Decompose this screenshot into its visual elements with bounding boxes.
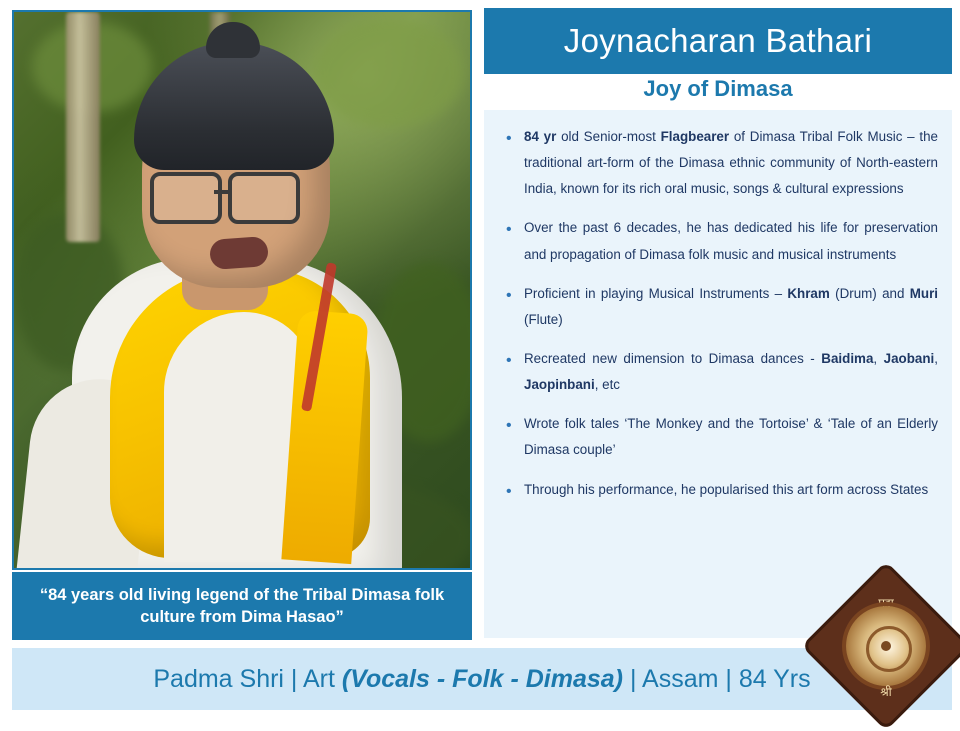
woolen-cap xyxy=(134,42,334,170)
footer-field-label: Art xyxy=(303,665,342,693)
emblem-bottom-text: श्री xyxy=(820,683,952,700)
page-subtitle: Joy of Dimasa xyxy=(484,76,952,102)
bullet-item: 84 yr old Senior-most Flagbearer of Dima… xyxy=(498,124,938,202)
bullet-item: Wrote folk tales ‘The Monkey and the Tor… xyxy=(498,411,938,463)
bullet-panel: 84 yr old Senior-most Flagbearer of Dima… xyxy=(484,110,952,638)
cap-top xyxy=(206,22,260,58)
bullet-text: (Flute) xyxy=(524,312,563,327)
footer-sep-3: | xyxy=(718,665,738,693)
footer-field-detail: (Vocals - Folk - Dimasa) xyxy=(342,665,623,693)
slide: “84 years old living legend of the Triba… xyxy=(0,0,960,720)
tree-trunk xyxy=(66,12,100,242)
footer-bar: Padma Shri | Art (Vocals - Folk - Dimasa… xyxy=(12,648,952,710)
spectacles-right-lens xyxy=(228,172,300,224)
bullet-text: Wrote folk tales ‘The Monkey and the Tor… xyxy=(524,416,938,457)
bullet-highlight: Flagbearer xyxy=(661,129,729,144)
bullet-highlight: Baidima xyxy=(821,351,873,366)
bullet-text: (Drum) and xyxy=(830,286,910,301)
bullet-text: , xyxy=(934,351,938,366)
footer-sep-1: | xyxy=(284,665,303,693)
bullet-item: Recreated new dimension to Dimasa dances… xyxy=(498,346,938,398)
person-mouth xyxy=(209,236,269,270)
photo-caption-box: “84 years old living legend of the Triba… xyxy=(12,572,472,640)
photo-caption-text: “84 years old living legend of the Triba… xyxy=(26,584,458,629)
bullet-highlight: Jaobani xyxy=(884,351,935,366)
footer-text: Padma Shri | Art (Vocals - Folk - Dimasa… xyxy=(153,665,810,694)
emblem-center-dot xyxy=(881,641,891,651)
bullet-text: , etc xyxy=(595,377,620,392)
bullet-text: old Senior-most xyxy=(556,129,660,144)
padma-awards-emblem: पद्म श्री xyxy=(820,580,952,712)
bullet-text: Over the past 6 decades, he has dedicate… xyxy=(524,220,938,261)
bullet-highlight: 84 yr xyxy=(524,129,556,144)
footer-state: Assam xyxy=(642,665,718,693)
bullet-item: Through his performance, he popularised … xyxy=(498,477,938,503)
bullet-highlight: Khram xyxy=(787,286,829,301)
bullet-item: Proficient in playing Musical Instrument… xyxy=(498,281,938,333)
footer-sep-2: | xyxy=(623,665,642,693)
bullet-text: Through his performance, he popularised … xyxy=(524,482,928,497)
bullet-text: , xyxy=(873,351,883,366)
spectacles-left-lens xyxy=(150,172,222,224)
portrait-photo xyxy=(12,10,472,570)
bullet-highlight: Jaopinbani xyxy=(524,377,595,392)
title-bar: Joynacharan Bathari xyxy=(484,8,952,74)
foliage-blob xyxy=(314,18,464,128)
footer-award: Padma Shri xyxy=(153,665,284,693)
spectacles-bridge xyxy=(214,190,230,194)
footer-age: 84 Yrs xyxy=(739,665,811,693)
bullet-list: 84 yr old Senior-most Flagbearer of Dima… xyxy=(498,124,938,503)
page-title: Joynacharan Bathari xyxy=(564,22,872,60)
photo-background xyxy=(14,12,470,568)
bullet-item: Over the past 6 decades, he has dedicate… xyxy=(498,215,938,267)
bullet-text: Recreated new dimension to Dimasa dances… xyxy=(524,351,821,366)
bullet-text: Proficient in playing Musical Instrument… xyxy=(524,286,787,301)
bullet-highlight: Muri xyxy=(910,286,938,301)
